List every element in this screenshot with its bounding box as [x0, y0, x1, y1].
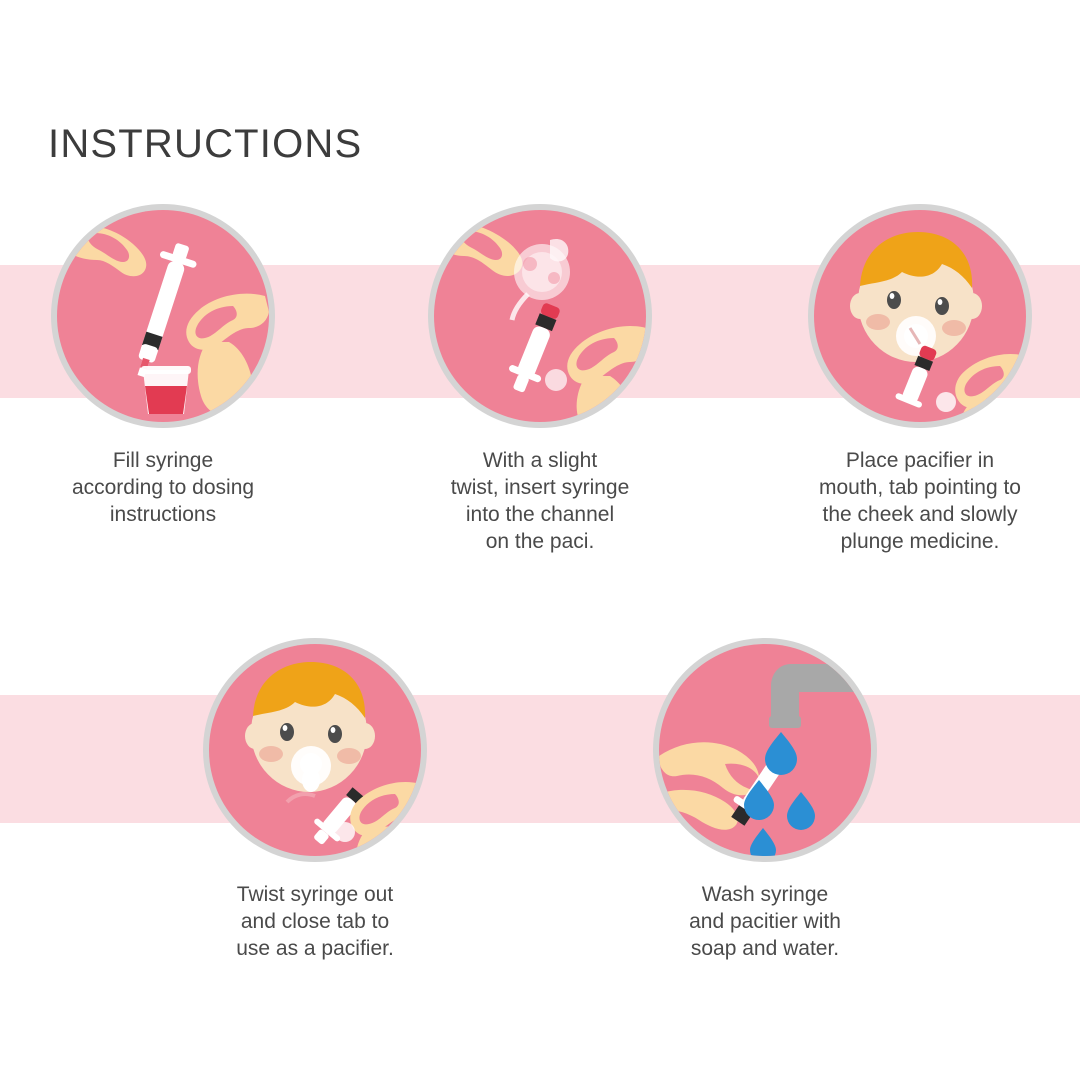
caption-line: according to dosing	[13, 475, 313, 502]
step-2: With a slight twist, insert syringe into…	[390, 210, 690, 556]
step-3: Place pacifier in mouth, tab pointing to…	[770, 210, 1070, 556]
syringe-into-pacifier-icon	[434, 210, 646, 422]
step-5-caption: Wash syringe and pacitier with soap and …	[615, 882, 915, 963]
wash-syringe-faucet-icon	[659, 644, 871, 856]
step-4-caption: Twist syringe out and close tab to use a…	[165, 882, 465, 963]
step-5-illustration-circle	[659, 644, 871, 856]
caption-line: and pacitier with	[615, 909, 915, 936]
caption-line: the cheek and slowly	[770, 502, 1070, 529]
page-title: INSTRUCTIONS	[48, 122, 362, 167]
caption-line: twist, insert syringe	[390, 475, 690, 502]
instructions-infographic: INSTRUCTIONS	[0, 0, 1080, 1080]
decorative-pink-band-bottom	[0, 695, 1080, 823]
caption-line: With a slight	[390, 448, 690, 475]
step-5: Wash syringe and pacitier with soap and …	[615, 644, 915, 963]
medicine-cup	[141, 366, 191, 414]
caption-line: instructions	[13, 502, 313, 529]
caption-line: mouth, tab pointing to	[770, 475, 1070, 502]
caption-line: soap and water.	[615, 936, 915, 963]
syringe-filling-from-cup-icon	[57, 210, 269, 422]
step-2-caption: With a slight twist, insert syringe into…	[390, 448, 690, 556]
step-1-caption: Fill syringe according to dosing instruc…	[13, 448, 313, 529]
caption-line: Place pacifier in	[770, 448, 1070, 475]
step-1: Fill syringe according to dosing instruc…	[13, 210, 313, 529]
step-4-illustration-circle	[209, 644, 421, 856]
baby-twist-syringe-out-icon	[209, 644, 421, 856]
caption-line: and close tab to	[165, 909, 465, 936]
pacifier	[512, 239, 570, 320]
caption-line: into the channel	[390, 502, 690, 529]
water-drop-icon	[744, 732, 815, 856]
caption-line: on the paci.	[390, 529, 690, 556]
step-3-caption: Place pacifier in mouth, tab pointing to…	[770, 448, 1070, 556]
step-3-illustration-circle	[814, 210, 1026, 422]
caption-line: Wash syringe	[615, 882, 915, 909]
caption-line: plunge medicine.	[770, 529, 1070, 556]
step-4: Twist syringe out and close tab to use a…	[165, 644, 465, 963]
caption-line: Fill syringe	[13, 448, 313, 475]
baby-pacifier-plunge-icon	[814, 210, 1026, 422]
step-1-illustration-circle	[57, 210, 269, 422]
caption-line: Twist syringe out	[165, 882, 465, 909]
step-2-illustration-circle	[434, 210, 646, 422]
caption-line: use as a pacifier.	[165, 936, 465, 963]
faucet-icon	[769, 664, 871, 728]
